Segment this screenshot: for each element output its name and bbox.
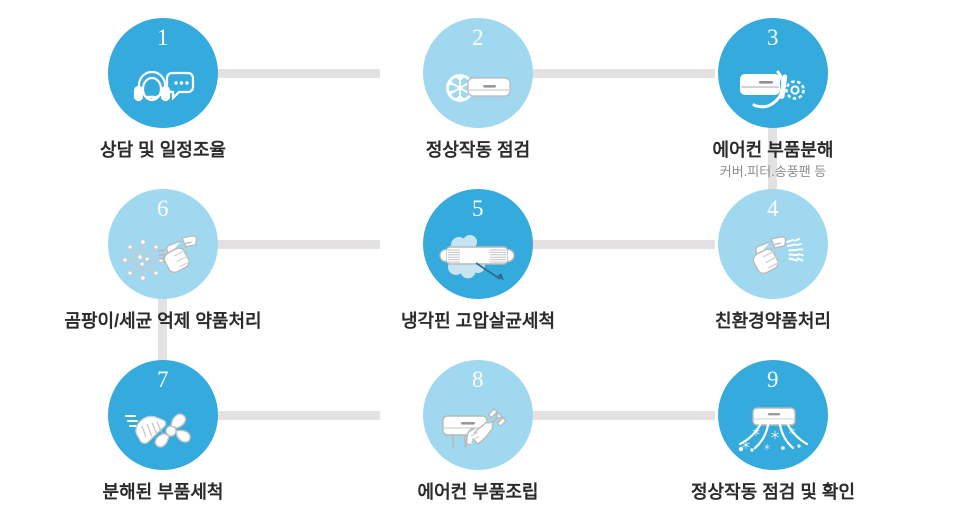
step-label-2: 정상작동 점검 — [426, 139, 530, 161]
step-label-1: 상담 및 일정조율 — [100, 139, 226, 161]
step-circle-1[interactable]: 1 — [108, 18, 218, 128]
snowflake-gear-aircon-icon — [423, 52, 533, 124]
step-number-8: 8 — [472, 368, 484, 391]
step-circle-8[interactable]: 8 — [423, 360, 533, 470]
step-label-7: 분해된 부품세척 — [103, 481, 224, 503]
step-label-8: 에어컨 부품조립 — [418, 481, 539, 503]
step-number-9: 9 — [767, 368, 779, 391]
step-label-5: 냉각핀 고압살균세척 — [401, 310, 555, 332]
aircon-wrench-assembly-icon — [423, 394, 533, 466]
step-number-4: 4 — [767, 197, 779, 220]
process-infographic: 1 상담 및 일정조율 2 — [0, 0, 966, 526]
step-circle-3[interactable]: 3 — [718, 18, 828, 128]
step-number-2: 2 — [472, 26, 484, 49]
step-node-8[interactable]: 8 에어컨 부품조립 — [358, 360, 598, 503]
germ-spray-icon — [108, 223, 218, 295]
step-node-5[interactable]: 5 — [358, 189, 598, 332]
headset-chat-icon — [108, 52, 218, 124]
step-node-1[interactable]: 1 상담 및 일정조율 — [43, 18, 283, 161]
step-number-1: 1 — [157, 26, 169, 49]
step-number-7: 7 — [157, 368, 169, 391]
step-sublabel-3: 커버.피터.송풍팬 등 — [720, 164, 827, 180]
fan-blade-wipe-icon — [108, 394, 218, 466]
step-circle-4[interactable]: 4 — [718, 189, 828, 299]
step-node-7[interactable]: 7 분해된 부품세척 — [43, 360, 283, 503]
step-label-4: 친환경약품처리 — [715, 310, 831, 332]
step-circle-7[interactable]: 7 — [108, 360, 218, 470]
step-node-6[interactable]: 6 — [43, 189, 283, 332]
step-circle-5[interactable]: 5 — [423, 189, 533, 299]
step-node-9[interactable]: 9 — [653, 360, 893, 503]
step-label-9: 정상작동 점검 및 확인 — [691, 481, 855, 503]
aircon-airflow-icon — [718, 394, 828, 466]
step-circle-2[interactable]: 2 — [423, 18, 533, 128]
step-label-6: 곰팡이/세균 억제 약품처리 — [64, 310, 261, 332]
step-node-4[interactable]: 4 친환경약품처 — [653, 189, 893, 332]
step-node-3[interactable]: 3 에어컨 부품분해 커버.피터.송풍팬 등 — [653, 18, 893, 180]
step-number-5: 5 — [472, 197, 484, 220]
step-node-2[interactable]: 2 정상작동 점검 — [358, 18, 598, 161]
step-number-3: 3 — [767, 26, 779, 49]
aircon-disassembly-icon — [718, 52, 828, 124]
cooling-fin-wash-icon — [423, 223, 533, 295]
spray-bottle-icon — [718, 223, 828, 295]
step-circle-6[interactable]: 6 — [108, 189, 218, 299]
step-number-6: 6 — [157, 197, 169, 220]
step-label-3: 에어컨 부품분해 — [713, 139, 834, 161]
step-circle-9[interactable]: 9 — [718, 360, 828, 470]
